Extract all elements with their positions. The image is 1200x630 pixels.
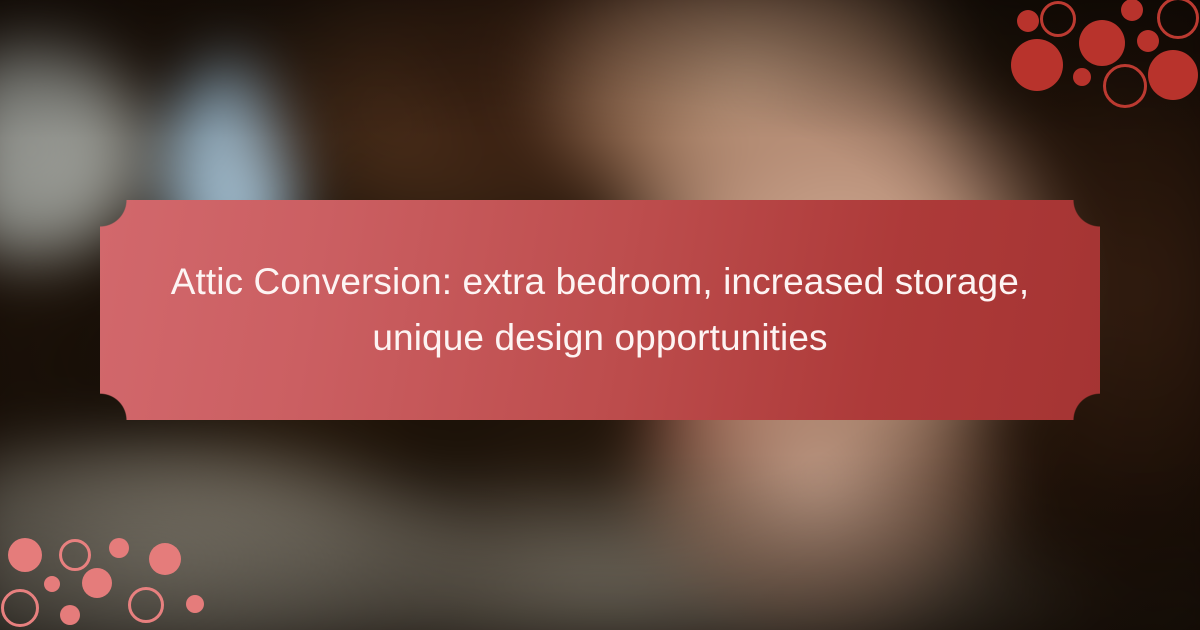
top-right-dot-cluster: [990, 0, 1200, 132]
decorative-dot-outline: [1, 589, 39, 627]
decorative-dot-filled: [149, 543, 181, 575]
decorative-dot-filled: [44, 576, 60, 592]
decorative-dot-filled: [82, 568, 112, 598]
decorative-dot-filled: [1137, 30, 1159, 52]
decorative-dot-filled: [1017, 10, 1039, 32]
og-image-card: Attic Conversion: extra bedroom, increas…: [0, 0, 1200, 630]
decorative-dot-filled: [1148, 50, 1198, 100]
decorative-dot-outline: [128, 587, 164, 623]
decorative-dot-outline: [1103, 64, 1147, 108]
decorative-dot-outline: [1040, 1, 1076, 37]
decorative-dot-filled: [1073, 68, 1091, 86]
decorative-dot-filled: [1079, 20, 1125, 66]
decorative-dot-outline: [59, 539, 91, 571]
decorative-dot-filled: [60, 605, 80, 625]
decorative-dot-filled: [1121, 0, 1143, 21]
decorative-dot-filled: [1011, 39, 1063, 91]
decorative-dot-filled: [8, 538, 42, 572]
headline-text: Attic Conversion: extra bedroom, increas…: [100, 254, 1100, 366]
decorative-dot-filled: [186, 595, 204, 613]
decorative-dot-outline: [1157, 0, 1199, 39]
decorative-dot-filled: [109, 538, 129, 558]
bottom-left-dot-cluster: [0, 495, 245, 630]
headline-banner: Attic Conversion: extra bedroom, increas…: [100, 200, 1100, 420]
